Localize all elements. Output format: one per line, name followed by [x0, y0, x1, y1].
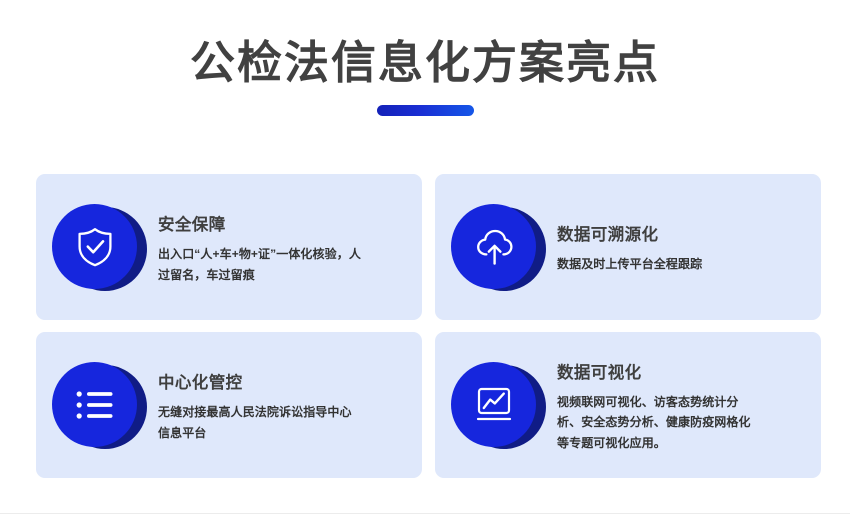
card-text: 数据可视化 视频联网可视化、访客态势统计分析、安全态势分析、健康防疫网格化等专题…: [557, 357, 762, 454]
title-underline-accent: [377, 105, 474, 116]
card-description: 出入口“人+车+物+证”一体化核验，人过留名，车过留痕: [158, 244, 363, 285]
feature-card-grid: 安全保障 出入口“人+车+物+证”一体化核验，人过留名，车过留痕: [36, 174, 814, 478]
card-text: 中心化管控 无缝对接最高人民法院诉讼指导中心信息平台: [158, 367, 363, 443]
chart-monitor-icon: [473, 385, 515, 425]
icon-circle: [451, 362, 536, 447]
feature-card-centralized-control[interactable]: 中心化管控 无缝对接最高人民法院诉讼指导中心信息平台: [36, 332, 422, 478]
card-description: 数据及时上传平台全程跟踪: [557, 254, 702, 275]
card-description: 无缝对接最高人民法院诉讼指导中心信息平台: [158, 402, 363, 443]
card-text: 安全保障 出入口“人+车+物+证”一体化核验，人过留名，车过留痕: [158, 209, 363, 285]
feature-card-data-traceability[interactable]: 数据可溯源化 数据及时上传平台全程跟踪: [435, 174, 821, 320]
feature-card-security[interactable]: 安全保障 出入口“人+车+物+证”一体化核验，人过留名，车过留痕: [36, 174, 422, 320]
list-bullets-icon: [75, 389, 115, 421]
page-header: 公检法信息化方案亮点: [0, 0, 850, 116]
icon-badge: [451, 362, 547, 448]
page-root: 公检法信息化方案亮点 安全保障 出入口“人+车+物+证”一体化核验，人: [0, 0, 850, 516]
icon-badge: [52, 204, 148, 290]
card-title: 安全保障: [158, 211, 363, 235]
card-title: 数据可溯源化: [557, 221, 702, 245]
icon-badge: [52, 362, 148, 448]
feature-card-data-visualization[interactable]: 数据可视化 视频联网可视化、访客态势统计分析、安全态势分析、健康防疫网格化等专题…: [435, 332, 821, 478]
cloud-upload-icon: [472, 226, 516, 268]
card-description: 视频联网可视化、访客态势统计分析、安全态势分析、健康防疫网格化等专题可视化应用。: [557, 392, 762, 454]
icon-badge: [451, 204, 547, 290]
card-text: 数据可溯源化 数据及时上传平台全程跟踪: [557, 219, 702, 275]
page-title: 公检法信息化方案亮点: [0, 38, 850, 88]
icon-circle: [52, 362, 137, 447]
shield-check-icon: [75, 226, 115, 268]
card-title: 数据可视化: [557, 359, 762, 383]
bottom-divider: [0, 513, 850, 514]
icon-circle: [52, 204, 137, 289]
card-title: 中心化管控: [158, 369, 363, 393]
icon-circle: [451, 204, 536, 289]
